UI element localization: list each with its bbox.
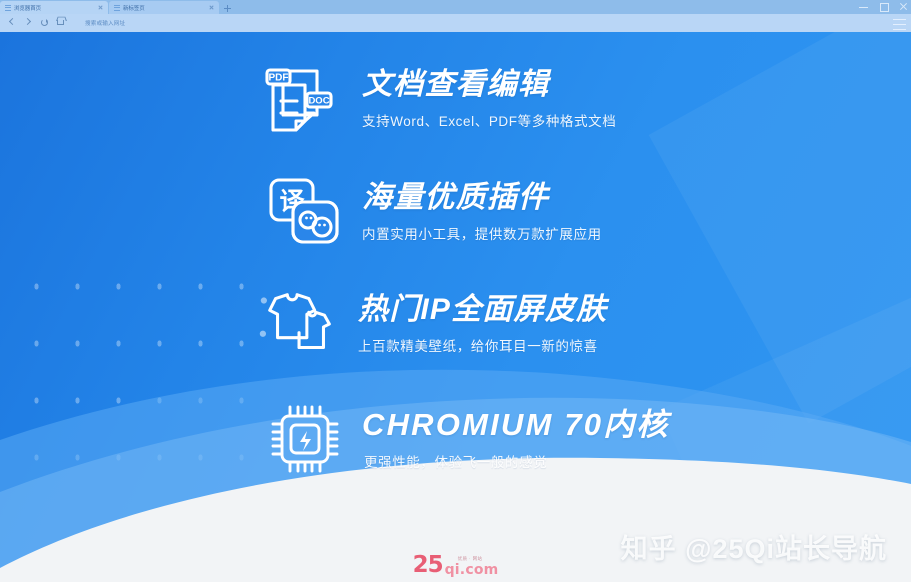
reload-button[interactable] <box>37 15 53 31</box>
home-icon <box>57 20 64 25</box>
logo-number: 25 <box>413 554 443 577</box>
translate-plugin-icon: 译 <box>262 173 348 251</box>
tab-title: 新标签页 <box>123 4 208 12</box>
site-logo-25qi: 25 优质 · 网站 qi.com <box>413 554 499 577</box>
feature-subtitle: 上百款精美壁纸，给你耳目一新的惊喜 <box>358 335 607 355</box>
close-icon[interactable] <box>898 1 909 12</box>
feature-title: 海量优质插件 <box>362 181 602 216</box>
feature-text: CHROMIUM 70内核 更强性能，体验飞一般的感觉 <box>362 407 670 471</box>
svg-text:PDF: PDF <box>269 73 289 84</box>
browser-tab-2[interactable]: 新标签页 <box>109 1 219 14</box>
tab-close-icon[interactable] <box>97 4 104 11</box>
tab-close-icon[interactable] <box>208 4 215 11</box>
browser-tab-1[interactable]: 浏览器首页 <box>0 1 108 14</box>
feature-item-document: PDF DOC 文档查看编辑 支持Word、Excel、PDF等多种格式文档 <box>262 60 616 138</box>
logo-domain: qi.com <box>445 563 499 577</box>
svg-text:DOC: DOC <box>308 96 329 107</box>
tab-favicon-icon <box>114 5 120 11</box>
feature-text: 热门IP全面屏皮肤 上百款精美壁纸，给你耳目一新的惊喜 <box>358 293 607 356</box>
watermark-zhihu: 知乎 @25Qi站长导航 <box>621 527 887 566</box>
feature-subtitle: 支持Word、Excel、PDF等多种格式文档 <box>362 110 616 130</box>
tab-title: 浏览器首页 <box>14 4 97 12</box>
browser-toolbar: 搜索或输入网址 <box>0 14 911 32</box>
document-pdf-doc-icon: PDF DOC <box>262 60 348 138</box>
feature-title: 热门IP全面屏皮肤 <box>358 293 607 328</box>
feature-item-skins: 热门IP全面屏皮肤 上百款精美壁纸，给你耳目一新的惊喜 <box>258 285 607 363</box>
logo-domain-wrap: 优质 · 网站 qi.com <box>445 556 499 577</box>
feature-text: 文档查看编辑 支持Word、Excel、PDF等多种格式文档 <box>362 68 616 131</box>
address-bar[interactable]: 搜索或输入网址 <box>79 17 911 30</box>
reload-icon <box>41 19 48 26</box>
menu-icon[interactable] <box>893 19 906 30</box>
address-input-placeholder: 搜索或输入网址 <box>85 19 125 27</box>
cpu-chip-bolt-icon <box>262 400 348 478</box>
tab-strip: 浏览器首页 新标签页 <box>0 0 911 14</box>
browser-window: 浏览器首页 新标签页 搜索或输入网址 <box>0 0 911 582</box>
feature-subtitle: 更强性能，体验飞一般的感觉 <box>364 451 670 471</box>
feature-item-chromium: CHROMIUM 70内核 更强性能，体验飞一般的感觉 <box>262 400 670 478</box>
new-tab-button[interactable] <box>221 2 234 14</box>
minimize-icon[interactable] <box>858 1 869 12</box>
tab-favicon-icon <box>5 5 11 11</box>
maximize-icon[interactable] <box>878 1 889 12</box>
window-controls <box>858 1 909 12</box>
back-button[interactable] <box>5 15 21 31</box>
feature-text: 海量优质插件 内置实用小工具，提供数万款扩展应用 <box>362 181 602 244</box>
forward-button[interactable] <box>21 15 37 31</box>
feature-title: 文档查看编辑 <box>362 68 616 103</box>
tshirt-skin-icon <box>258 285 344 363</box>
feature-item-plugins: 译 海量优质插件 内置实用小工具，提供数万款扩展应用 <box>262 173 602 251</box>
page-content: PDF DOC 文档查看编辑 支持Word、Excel、PDF等多种格式文档 <box>0 32 911 582</box>
chevron-right-icon <box>24 18 31 25</box>
chevron-left-icon <box>9 18 16 25</box>
home-button[interactable] <box>53 15 69 31</box>
feature-subtitle: 内置实用小工具，提供数万款扩展应用 <box>362 223 602 243</box>
feature-title: CHROMIUM 70内核 <box>362 407 670 443</box>
